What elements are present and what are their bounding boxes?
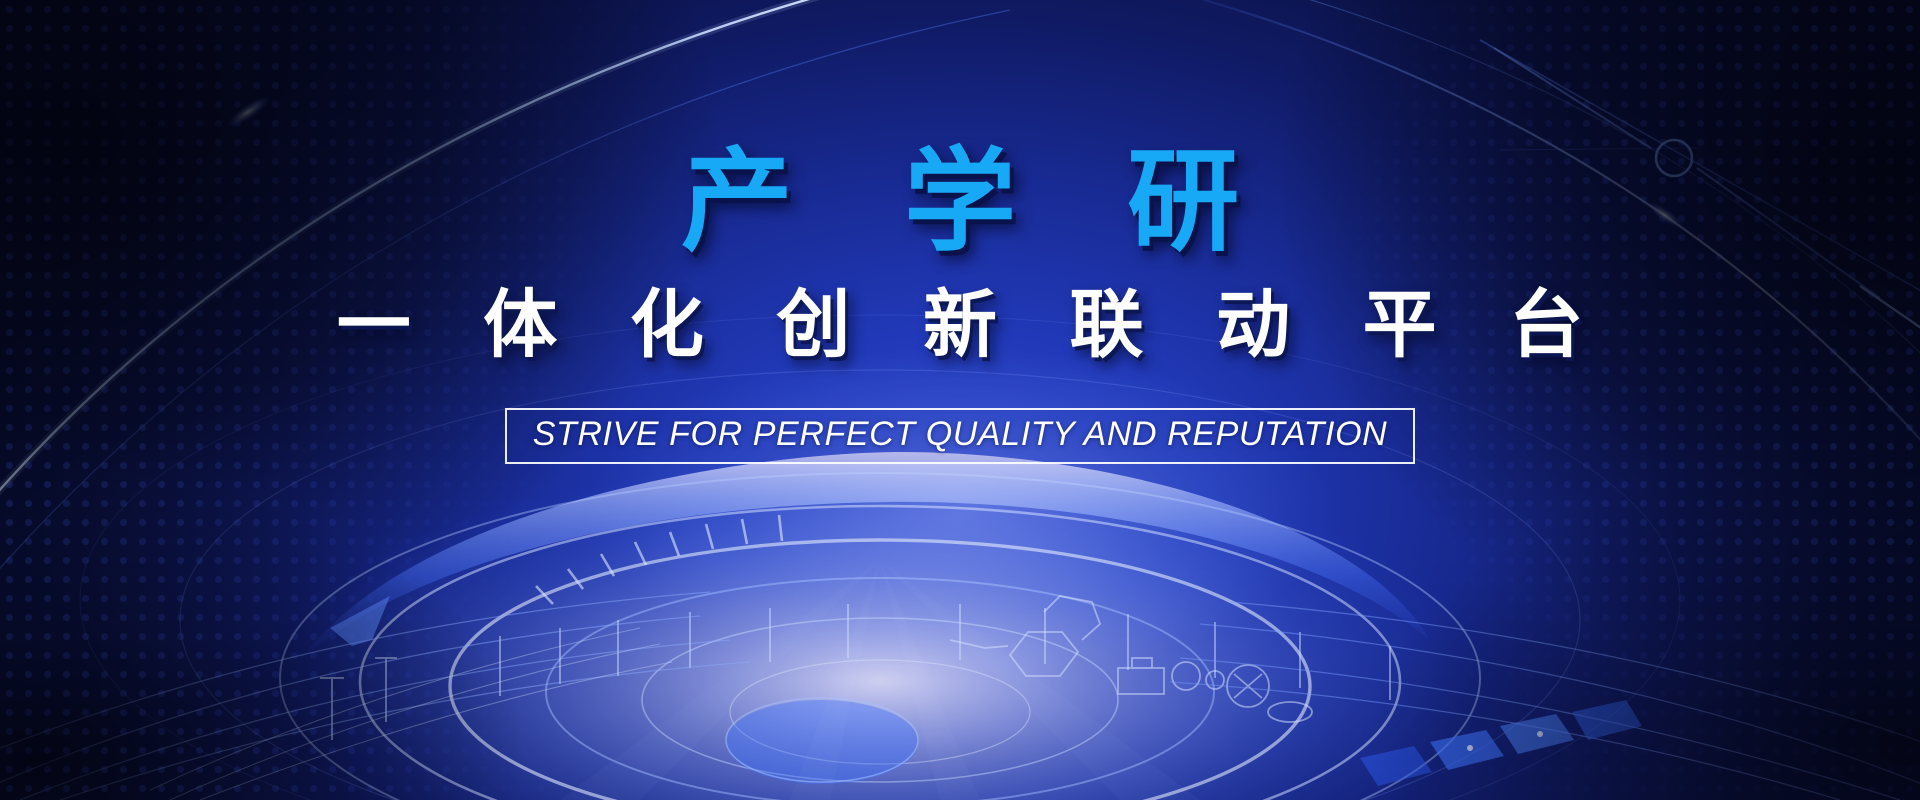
hero-banner: 产 学 研 一 体 化 创 新 联 动 平 台 STRIVE FOR PERFE… (0, 0, 1920, 800)
headline-primary: 产 学 研 (641, 146, 1279, 258)
subtitle-english: STRIVE FOR PERFECT QUALITY AND REPUTATIO… (533, 417, 1388, 453)
banner-content: 产 学 研 一 体 化 创 新 联 动 平 台 STRIVE FOR PERFE… (0, 0, 1920, 800)
headline-secondary: 一 体 化 创 新 联 动 平 台 (311, 288, 1609, 362)
subtitle-box: STRIVE FOR PERFECT QUALITY AND REPUTATIO… (505, 408, 1416, 464)
